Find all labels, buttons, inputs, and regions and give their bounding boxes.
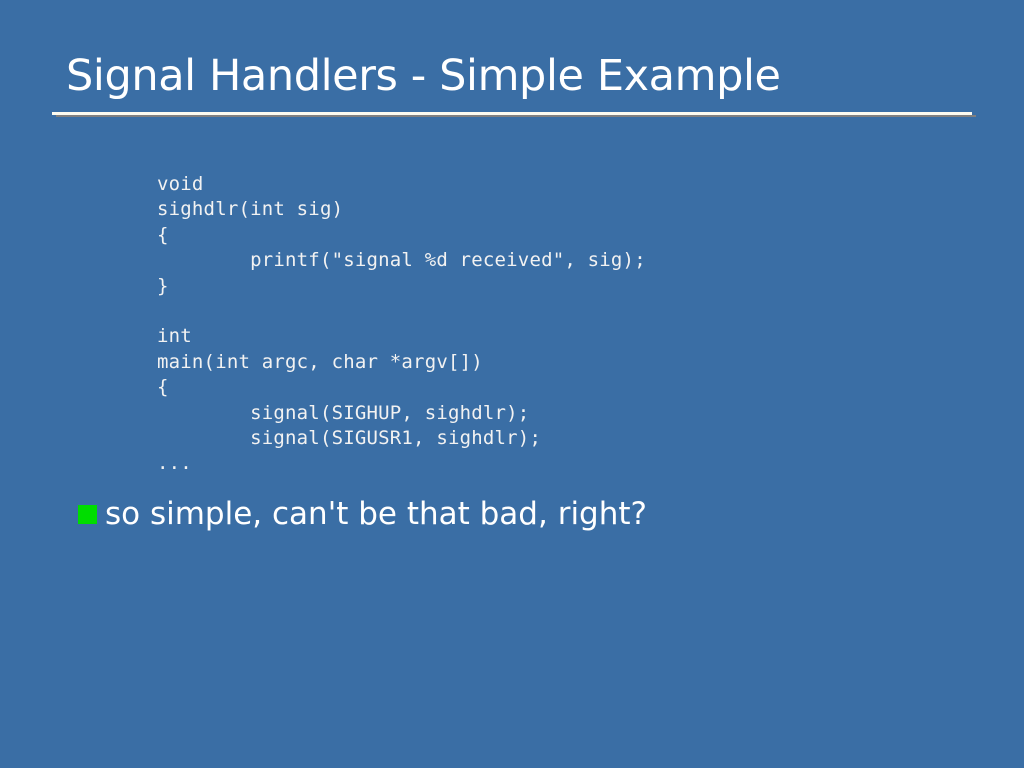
code-line: ... [157, 451, 646, 476]
code-block: voidsighdlr(int sig){ printf("signal %d … [157, 172, 646, 477]
code-line: } [157, 274, 646, 299]
code-line: void [157, 172, 646, 197]
code-line: { [157, 375, 646, 400]
code-line: main(int argc, char *argv[]) [157, 350, 646, 375]
code-line: signal(SIGUSR1, sighdlr); [157, 426, 646, 451]
title-underline-line [52, 112, 972, 115]
code-line [157, 299, 646, 324]
title-block: Signal Handlers - Simple Example [52, 48, 972, 118]
green-square-bullet-icon [78, 505, 97, 524]
list-item: so simple, can't be that bad, right? [78, 492, 647, 536]
slide-canvas: Signal Handlers - Simple Example voidsig… [0, 0, 1024, 768]
code-line: sighdlr(int sig) [157, 197, 646, 222]
code-line: { [157, 223, 646, 248]
code-line: printf("signal %d received", sig); [157, 248, 646, 273]
bullet-item-label: so simple, can't be that bad, right? [105, 492, 647, 536]
code-line: signal(SIGHUP, sighdlr); [157, 401, 646, 426]
page-title: Signal Handlers - Simple Example [66, 48, 781, 104]
code-line: int [157, 324, 646, 349]
title-underline-rule [52, 112, 972, 118]
title-underline-shadow [56, 115, 976, 117]
